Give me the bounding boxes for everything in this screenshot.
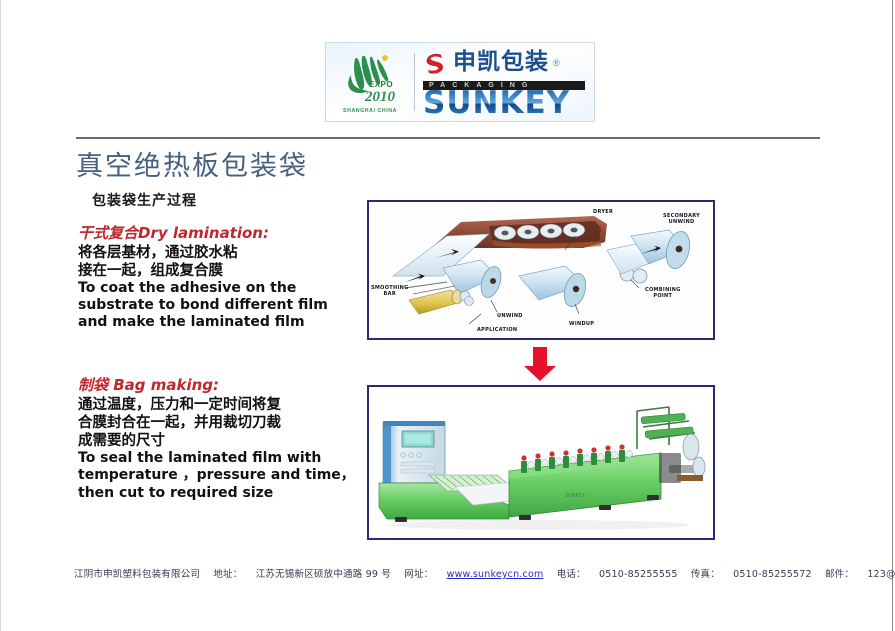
expo-2010-shanghai-logo: EXPO 2010 SHANGHAI CHINA	[326, 43, 414, 121]
section-dry-lamination: 干式复合Dry lamination: 将各层基材，通过胶水粘 接在一起，组成复…	[78, 222, 368, 331]
page-border-right	[892, 0, 893, 631]
brand-english-name: SUNKEY	[423, 88, 594, 119]
footer-fax-label: 传真：	[691, 569, 720, 580]
label-application: APPLICATION	[477, 328, 517, 334]
dry-lamination-cn-line-2: 接在一起，组成复合膜	[78, 262, 368, 280]
dry-lamination-en-line-2: substrate to bond different film	[78, 297, 368, 314]
page-subtitle: 包装袋生产过程	[92, 190, 197, 210]
bag-making-en-line-1: To seal the laminated film with	[78, 450, 368, 467]
footer-email-label: 邮件：	[825, 569, 854, 580]
bag-making-en-line-2: temperature ，pressure and time，	[78, 467, 368, 484]
bag-making-cn-line-2: 合膜封合在一起，并用裁切刀裁	[78, 414, 368, 432]
lamination-illustration	[369, 202, 713, 338]
dry-lamination-heading: 干式复合Dry lamination:	[78, 222, 368, 243]
bag-making-cn-line-1: 通过温度，压力和一定时间将复	[78, 396, 368, 414]
registered-trademark-icon: ®	[553, 58, 560, 68]
bag-making-cn-line-3: 成需要的尺寸	[78, 432, 368, 450]
label-secondary-unwind: SECONDARY UNWIND	[663, 214, 700, 226]
down-arrow	[522, 347, 558, 381]
label-windup: WINDUP	[569, 322, 594, 328]
page-title: 真空绝热板包装袋	[76, 144, 308, 183]
label-combining-point: COMBINING POINT	[645, 288, 681, 300]
dry-lamination-diagram: DRYER SECONDARY UNWIND SMOOTHING BAR UNW…	[367, 200, 715, 340]
brand-chinese-name: 申凯包装	[453, 51, 549, 74]
dry-lamination-en-line-1: To coat the adhesive on the	[78, 280, 368, 297]
header-logo-band: EXPO 2010 SHANGHAI CHINA 申凯包装 ® PACKAGIN…	[325, 42, 595, 122]
label-dryer: DRYER	[593, 210, 613, 216]
bag-machine-illustration: SUNKEY	[369, 387, 713, 538]
footer-phone: 0510-85255555	[599, 569, 678, 580]
footer-address-label: 地址：	[213, 569, 242, 580]
label-unwind: UNWIND	[497, 314, 523, 320]
footer-fax: 0510-85255572	[733, 569, 812, 580]
footer-contact-bar: 江阴市申凯塑料包装有限公司 地址： 江苏无锡新区硕放中通路 99 号 网址： w…	[74, 566, 864, 580]
dry-lamination-en-line-3: and make the laminated film	[78, 314, 368, 331]
footer-address: 江苏无锡新区硕放中通路 99 号	[256, 569, 391, 580]
footer-company: 江阴市申凯塑料包装有限公司	[74, 569, 200, 580]
bag-making-machine-photo: SUNKEY	[367, 385, 715, 540]
section-bag-making: 制袋 Bag making: 通过温度，压力和一定时间将复 合膜封合在一起，并用…	[78, 374, 368, 502]
label-smoothing-bar: SMOOTHING BAR	[371, 286, 409, 298]
footer-email: 123@sunkeycn.com	[867, 569, 895, 580]
slide-page: EXPO 2010 SHANGHAI CHINA 申凯包装 ® PACKAGIN…	[0, 0, 895, 631]
svg-text:SUNKEY: SUNKEY	[565, 493, 586, 499]
page-border-left	[0, 0, 1, 631]
footer-website-label: 网址：	[404, 569, 433, 580]
footer-website-link[interactable]: www.sunkeycn.com	[447, 569, 544, 580]
expo-city: SHANGHAI CHINA	[343, 108, 397, 114]
sunkey-packaging-logo: 申凯包装 ® PACKAGING SUNKEY	[415, 43, 594, 121]
expo-mark-icon	[343, 53, 397, 95]
dry-lamination-cn-line-1: 将各层基材，通过胶水粘	[78, 244, 368, 262]
sunkey-s-mark-icon	[423, 51, 447, 75]
title-divider-rule	[76, 137, 820, 139]
bag-making-heading: 制袋 Bag making:	[78, 374, 368, 395]
footer-phone-label: 电话：	[557, 569, 586, 580]
bag-making-en-line-3: then cut to required size	[78, 485, 368, 502]
